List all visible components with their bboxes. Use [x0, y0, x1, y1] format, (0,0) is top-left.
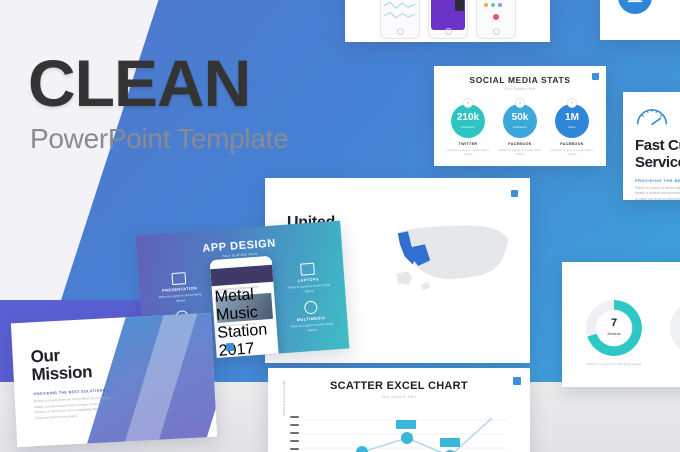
- social-stat-circle: 50k followers: [503, 104, 537, 138]
- social-stat-value: 50k: [512, 113, 529, 123]
- laptop-icon: [300, 263, 315, 276]
- social-stat-value: 210k: [457, 113, 479, 123]
- laptop-icon: [626, 0, 644, 6]
- scatter-chart-svg: [302, 412, 507, 452]
- awards-donut-chart-secondary: [670, 300, 680, 356]
- scatter-chart-title: SCATTER EXCEL CHART: [268, 380, 530, 392]
- app-phone-content: Metal Music Station 2017 Biglep: [211, 282, 276, 332]
- social-stat-item[interactable]: f 50k followers FACEBOOK Refers to a goo…: [498, 98, 542, 156]
- slide-number-badge: [226, 343, 235, 352]
- phone-home-button: [493, 28, 500, 35]
- slide-number-badge: [513, 377, 521, 385]
- social-stat-value: 1M: [565, 113, 579, 123]
- phone-record-dot: [493, 14, 499, 20]
- phone-mockup: [380, 0, 420, 39]
- fast-service-kicker: PROVIDING THE BEST: [635, 178, 680, 183]
- slide-awards[interactable]: Awards Your Subtitle Here 7 Awards Refer…: [562, 262, 680, 387]
- awards-donut-label: 7 Awards: [586, 318, 642, 336]
- phone-thumb-panel: [455, 0, 464, 11]
- fast-service-content: Fast Cu Service PROVIDING THE BEST Refer…: [623, 92, 680, 200]
- slide-social-media-stats[interactable]: SOCIAL MEDIA STATS Your Subtitle Here t …: [434, 66, 606, 166]
- mission-title: Our Mission: [30, 345, 92, 385]
- phone-home-button: [397, 28, 404, 35]
- social-stat-circle: 210k followers: [451, 104, 485, 138]
- scatter-plot-area: [302, 412, 507, 452]
- phone-dot-row: [484, 3, 502, 7]
- slide-number-badge: [511, 190, 518, 197]
- mission-title-line2: Mission: [31, 364, 92, 386]
- phone-home-button: [445, 28, 452, 35]
- slide-app-screens[interactable]: [345, 0, 550, 42]
- phone-mockup: [428, 0, 468, 39]
- social-stat-item[interactable]: f 1M likes FACEBOOK Refers to a good or …: [550, 98, 594, 156]
- awards-value: 7: [586, 318, 642, 329]
- social-stat-network: FACEBOOK: [498, 142, 542, 146]
- feature-multimedia[interactable]: MULTIMEDIA Refers to a good or service b…: [284, 299, 338, 334]
- phone-mockup-row: [345, 0, 550, 39]
- awards-caption: Refers to a good or service being offere…: [580, 362, 648, 367]
- slide-scatter-excel-chart[interactable]: SCATTER EXCEL CHART Your Subtitle Here A…: [268, 368, 530, 452]
- wave-chart-icon: [384, 0, 419, 23]
- social-stats-subtitle: Your Subtitle Here: [434, 87, 606, 91]
- phone-mockup: [476, 0, 516, 39]
- usa-map[interactable]: [383, 208, 518, 298]
- social-stat-unit: followers: [513, 125, 527, 129]
- slide-number-badge: [592, 73, 599, 80]
- social-stats-title: SOCIAL MEDIA STATS: [434, 75, 606, 85]
- slide-our-mission[interactable]: Our Mission PROVIDING THE BEST SOLUTIONS…: [11, 313, 217, 447]
- app-phone-mockup: Metal Music Station 2017 Biglep: [209, 256, 278, 358]
- social-stat-unit: likes: [568, 125, 575, 129]
- social-stat-description: Refers to a good or service being offere…: [498, 148, 542, 156]
- social-stat-unit: followers: [461, 125, 475, 129]
- social-stat-network: TWITTER: [446, 142, 490, 146]
- presentation-icon: [171, 272, 186, 285]
- scatter-chart-subtitle: Your Subtitle Here: [268, 395, 530, 399]
- usa-map-icon: [383, 208, 518, 298]
- speedometer-icon: [635, 104, 669, 126]
- feature-laptops[interactable]: LAPTOPS Refers to a good or service bein…: [281, 261, 335, 295]
- social-stat-network: FACEBOOK: [550, 142, 594, 146]
- app-phone-headline: Metal Music Station 2017 Biglep: [214, 286, 259, 291]
- slide-fast-customer-service[interactable]: Fast Cu Service PROVIDING THE BEST Refer…: [623, 92, 680, 200]
- social-stat-description: Refers to a good or service being offere…: [550, 148, 594, 156]
- page-title: CLEAN: [28, 52, 358, 115]
- hero-text-block: CLEAN PowerPoint Template: [28, 52, 358, 155]
- fast-service-body: Refers to a good or service being offere…: [635, 186, 680, 200]
- fast-service-title-line1: Fast Cu: [635, 138, 680, 155]
- mission-body: Refers to a good or service being offere…: [34, 395, 113, 421]
- fast-service-title: Fast Cu Service: [635, 138, 680, 172]
- feature-presentation[interactable]: PRESENTATION Refers to a good or service…: [152, 271, 206, 305]
- slide-bubble-infographic[interactable]: [600, 0, 680, 40]
- poster-canvas: CLEAN PowerPoint Template: [0, 0, 680, 452]
- social-stat-description: Refers to a good or service being offere…: [446, 148, 490, 156]
- fast-service-title-line2: Service: [635, 155, 680, 172]
- facebook-icon: f: [515, 98, 525, 108]
- twitter-icon: t: [463, 98, 473, 108]
- social-stats-row: t 210k followers TWITTER Refers to a goo…: [434, 98, 606, 156]
- social-stat-circle: 1M likes: [555, 104, 589, 138]
- social-stat-item[interactable]: t 210k followers TWITTER Refers to a goo…: [446, 98, 490, 156]
- play-icon: [303, 301, 317, 315]
- scatter-y-axis-label: Annual revenue from sales: [282, 380, 286, 416]
- page-subtitle: PowerPoint Template: [30, 123, 358, 155]
- facebook-icon: f: [567, 98, 577, 108]
- awards-label: Awards: [586, 331, 642, 336]
